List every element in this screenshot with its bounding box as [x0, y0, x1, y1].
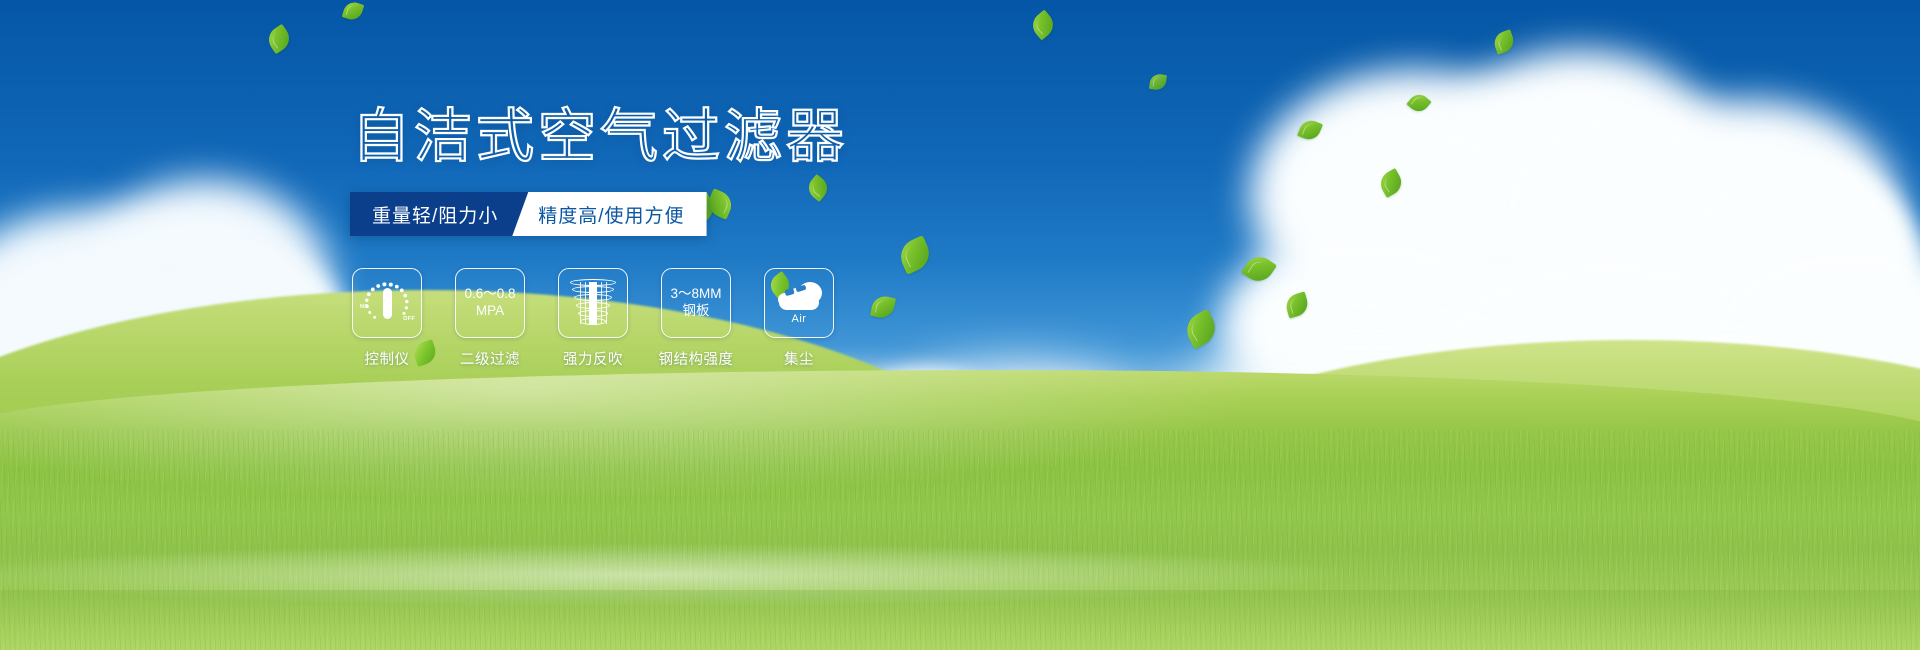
- subtitle-pill-secondary[interactable]: 精度高/使用方便: [512, 192, 706, 236]
- feature-item-back-blow[interactable]: 强力反吹: [558, 268, 628, 369]
- feature-icon-box: NO OFF: [352, 268, 422, 338]
- subtitle-pill-primary[interactable]: 重量轻/阻力小: [350, 192, 528, 236]
- feature-item-controller[interactable]: NO OFF 控制仪: [352, 268, 422, 369]
- gauge-needle-icon: [383, 288, 392, 319]
- feature-caption: 二级过滤: [460, 348, 520, 369]
- feature-icon-box: [558, 268, 628, 338]
- feature-caption: 钢结构强度: [659, 348, 734, 369]
- feature-caption: 强力反吹: [563, 348, 623, 369]
- gauge-dial-icon: NO OFF: [361, 279, 413, 327]
- feature-item-secondary-filtration[interactable]: 0.6～0.8 MPA 二级过滤: [455, 268, 525, 369]
- page-title: 自洁式空气过滤器: [352, 108, 1252, 166]
- dust-cloud-label: Air: [792, 313, 807, 325]
- grass-shadow-band: [0, 590, 1920, 650]
- feature-icon-box: 0.6～0.8 MPA: [455, 268, 525, 338]
- feature-item-dust-collection[interactable]: Air 集尘: [764, 268, 834, 369]
- product-banner: 自洁式空气过滤器 重量轻/阻力小 精度高/使用方便: [0, 0, 1920, 650]
- gauge-label-off: OFF: [403, 316, 415, 322]
- feature-value-line1: 0.6～0.8: [464, 286, 515, 303]
- feature-value-line2: 钢板: [683, 303, 710, 320]
- feature-icon-box: 3～8MM 钢板: [661, 268, 731, 338]
- feature-icon-box: Air: [764, 268, 834, 338]
- subtitle-pill-group: 重量轻/阻力小 精度高/使用方便: [350, 192, 707, 236]
- title-block: 自洁式空气过滤器: [352, 108, 1252, 166]
- feature-list: NO OFF 控制仪 0.6～0.8 MPA 二级过滤: [352, 268, 834, 369]
- gauge-label-no: NO: [360, 304, 369, 310]
- feature-caption: 控制仪: [365, 348, 410, 369]
- filter-stack-icon: [570, 278, 616, 328]
- feature-value-line2: MPA: [476, 303, 504, 320]
- feature-item-steel-strength[interactable]: 3～8MM 钢板 钢结构强度: [661, 268, 731, 369]
- dust-cloud-icon: [776, 282, 822, 312]
- feature-caption: 集尘: [784, 348, 814, 369]
- feature-value-line1: 3～8MM: [670, 286, 721, 303]
